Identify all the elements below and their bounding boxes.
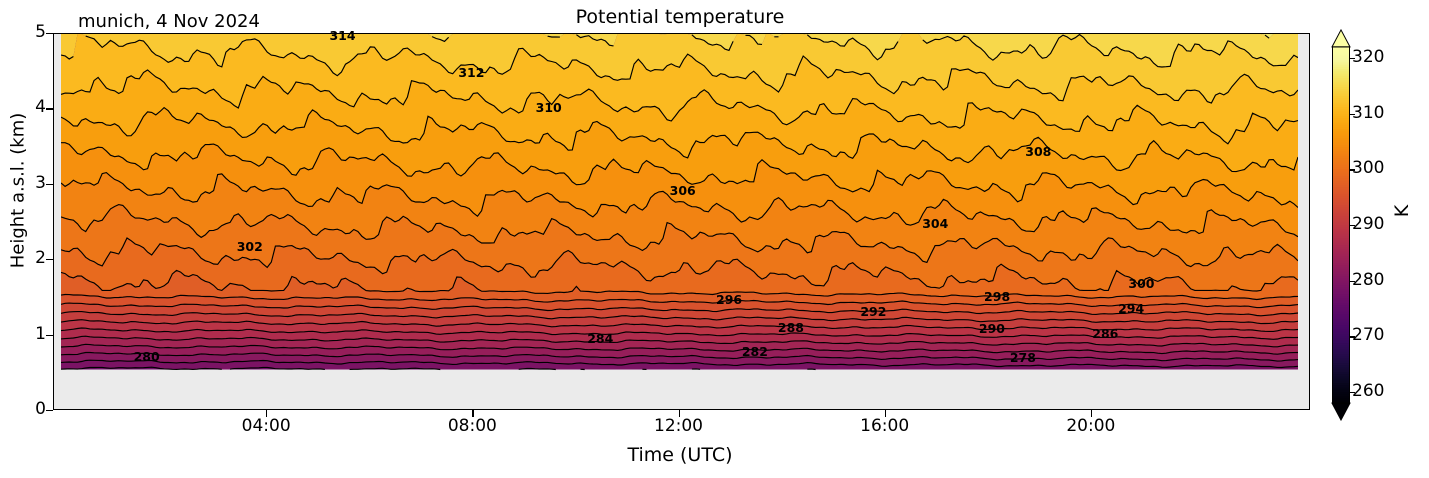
y-tick-mark <box>46 108 53 109</box>
x-tick-label: 04:00 <box>221 416 311 436</box>
contour-lines <box>61 34 1298 410</box>
page-title: Potential temperature <box>430 6 930 28</box>
contour-label: 296 <box>716 292 742 307</box>
colorbar-tick-label: 280 <box>1352 270 1384 290</box>
contour-label: 298 <box>984 289 1010 304</box>
contour-label: 282 <box>742 344 768 359</box>
contour-label: 302 <box>237 239 263 254</box>
colorbar-tick-mark <box>1349 114 1355 115</box>
contour-label: 292 <box>860 304 886 319</box>
y-tick-mark <box>46 335 53 336</box>
colorbar-tick-label: 310 <box>1352 103 1384 123</box>
contour-label: 308 <box>1025 144 1051 159</box>
colorbar-tick-mark <box>1349 58 1355 59</box>
x-tick-mark <box>885 410 886 417</box>
y-tick-mark <box>46 33 53 34</box>
colorbar-tick-mark <box>1349 336 1355 337</box>
x-tick-label: 16:00 <box>840 416 930 436</box>
colorbar-tick-label: 320 <box>1352 47 1384 67</box>
contour-label: 286 <box>1092 326 1118 341</box>
contour-label: 280 <box>134 349 160 364</box>
colorbar-tick-mark <box>1349 281 1355 282</box>
colorbar-tick-mark <box>1349 225 1355 226</box>
x-tick-label: 12:00 <box>634 416 724 436</box>
x-axis-label: Time (UTC) <box>450 444 910 466</box>
contour-label: 288 <box>778 320 804 335</box>
contour-label: 310 <box>536 100 562 115</box>
colorbar[interactable] <box>1332 33 1350 410</box>
x-tick-label: 08:00 <box>427 416 517 436</box>
y-tick-mark <box>46 259 53 260</box>
y-tick-mark <box>46 184 53 185</box>
contour-label: 278 <box>1010 350 1036 365</box>
y-tick-label: 1 <box>0 324 46 344</box>
y-tick-label: 4 <box>0 97 46 117</box>
subtitle: munich, 4 Nov 2024 <box>78 11 260 32</box>
y-tick-label: 5 <box>0 22 46 42</box>
colorbar-tick-label: 300 <box>1352 158 1384 178</box>
y-tick-label: 0 <box>0 399 46 419</box>
x-tick-mark <box>266 410 267 417</box>
x-tick-mark <box>472 410 473 417</box>
contour-label: 312 <box>458 65 484 80</box>
colorbar-tick-mark <box>1349 392 1355 393</box>
contour-label: 300 <box>1128 276 1154 291</box>
contour-label: 294 <box>1118 301 1144 316</box>
contour-label: 284 <box>587 331 613 346</box>
x-tick-mark <box>679 410 680 417</box>
colorbar-tick-label: 270 <box>1352 325 1384 345</box>
x-tick-mark <box>1091 410 1092 417</box>
colorbar-tick-mark <box>1349 169 1355 170</box>
y-tick-label: 2 <box>0 248 46 268</box>
contour-label: 290 <box>979 321 1005 336</box>
plot-area[interactable] <box>53 33 1310 410</box>
y-tick-mark <box>46 410 53 411</box>
contour-data-layer <box>61 34 1298 410</box>
x-tick-label: 20:00 <box>1046 416 1136 436</box>
y-tick-label: 3 <box>0 173 46 193</box>
contour-label: 304 <box>922 216 948 231</box>
figure: munich, 4 Nov 2024 Potential temperature… <box>0 0 1429 478</box>
contour-label: 314 <box>329 28 355 43</box>
contour-label: 306 <box>670 183 696 198</box>
colorbar-tick-label: 260 <box>1352 381 1384 401</box>
colorbar-label: K <box>1391 171 1413 251</box>
colorbar-tick-label: 290 <box>1352 214 1384 234</box>
